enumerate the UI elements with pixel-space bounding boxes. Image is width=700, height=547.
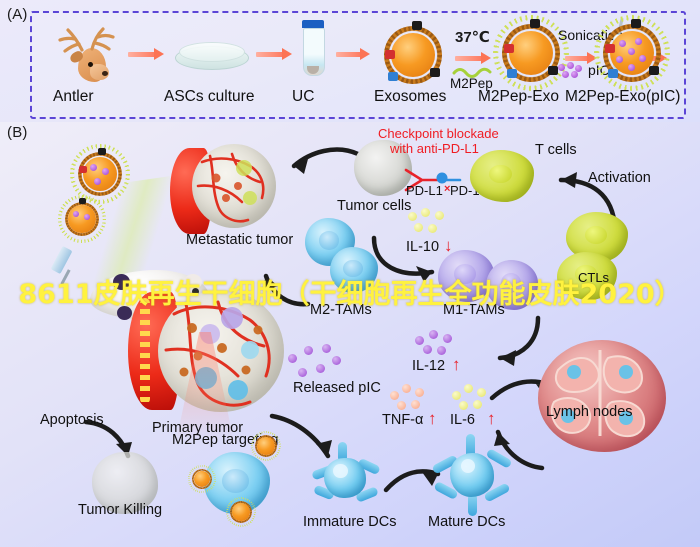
checkpoint-blockade-line2: with anti-PD-L1	[390, 141, 479, 156]
t-cell-top	[470, 150, 534, 202]
arrow-tumor-cells-to-metastatic	[276, 144, 362, 186]
primary-tumor-vessel-dots	[140, 298, 150, 404]
stage-caption-uc: UC	[292, 88, 314, 106]
antler-deer-illustration	[48, 22, 120, 84]
pd-l1-label: PD-L1	[406, 183, 443, 198]
panel-a-label: (A)	[7, 6, 28, 23]
t-cells-caption: T cells	[535, 142, 577, 158]
pic-cluster-icon	[558, 62, 584, 78]
lymph-nodes-caption: Lymph nodes	[546, 404, 633, 420]
arrow-antler-to-culture	[128, 48, 164, 61]
panel-b-label: (B)	[7, 124, 28, 141]
immature-dc-cell	[308, 442, 382, 514]
metastatic-tumor-caption: Metastatic tumor	[186, 232, 293, 248]
immature-dcs-caption: Immature DCs	[303, 514, 396, 530]
mouse-tumor-spot-2	[117, 306, 132, 320]
mature-dcs-caption: Mature DCs	[428, 514, 505, 530]
apoptosis-caption: Apoptosis	[40, 412, 104, 428]
targeting-exosome-2	[191, 468, 213, 490]
mouse-tumor-spot-1	[113, 274, 130, 290]
stage-caption-antler: Antler	[53, 88, 94, 106]
stage-caption-ascs-culture: ASCs culture	[164, 88, 254, 106]
panel-b: (B)	[0, 122, 700, 547]
tumor-cells-caption: Tumor cells	[337, 198, 411, 214]
petri-dish-illustration	[175, 40, 247, 72]
lymph-node-internal-structure	[538, 340, 666, 452]
stage-caption-m2pep-exo-pic: M2Pep-Exo(pIC)	[565, 88, 680, 106]
exosome-particle	[382, 24, 444, 86]
temperature-label: 37℃	[455, 28, 490, 46]
m2pep-exosome-particle	[500, 22, 562, 84]
stage-caption-m2pep-exo: M2Pep-Exo	[478, 88, 559, 106]
tnf-alpha-cytokine-cluster	[390, 384, 434, 412]
tumor-killing-caption: Tumor Killing	[78, 502, 162, 518]
arrow-exosomes-to-m2pep-exo	[455, 52, 491, 65]
mature-dc-cell	[432, 436, 512, 514]
panel-a: (A) Antler	[0, 0, 700, 122]
m2-tams-caption: M2-TAMs	[310, 302, 372, 318]
stage-caption-exosomes: Exosomes	[374, 88, 446, 106]
centrifuge-tube-illustration	[300, 20, 326, 82]
il-12-label: IL-12	[412, 358, 445, 374]
targeting-exosome-3	[229, 500, 253, 524]
m2pep-exosome-pic-particle	[601, 22, 663, 84]
released-pic-caption: Released pIC	[293, 380, 381, 396]
released-pic-cluster	[288, 344, 344, 382]
metastatic-tumor-vasculature	[188, 142, 280, 234]
arrow-culture-to-uc	[256, 48, 292, 61]
il-12-arrow: ↑	[452, 355, 461, 375]
tnf-alpha-label: TNF-α	[382, 412, 423, 428]
m1-tam-cell-1	[438, 250, 494, 302]
tnf-alpha-arrow: ↑	[428, 409, 437, 429]
figure-root: (A) Antler	[0, 0, 700, 547]
checkpoint-blockade-line1: Checkpoint blockade	[378, 126, 499, 141]
il-12-cytokine-cluster	[415, 330, 459, 356]
arrow-uc-to-exosomes	[336, 48, 370, 61]
ctls-caption: CTLs	[578, 270, 609, 285]
